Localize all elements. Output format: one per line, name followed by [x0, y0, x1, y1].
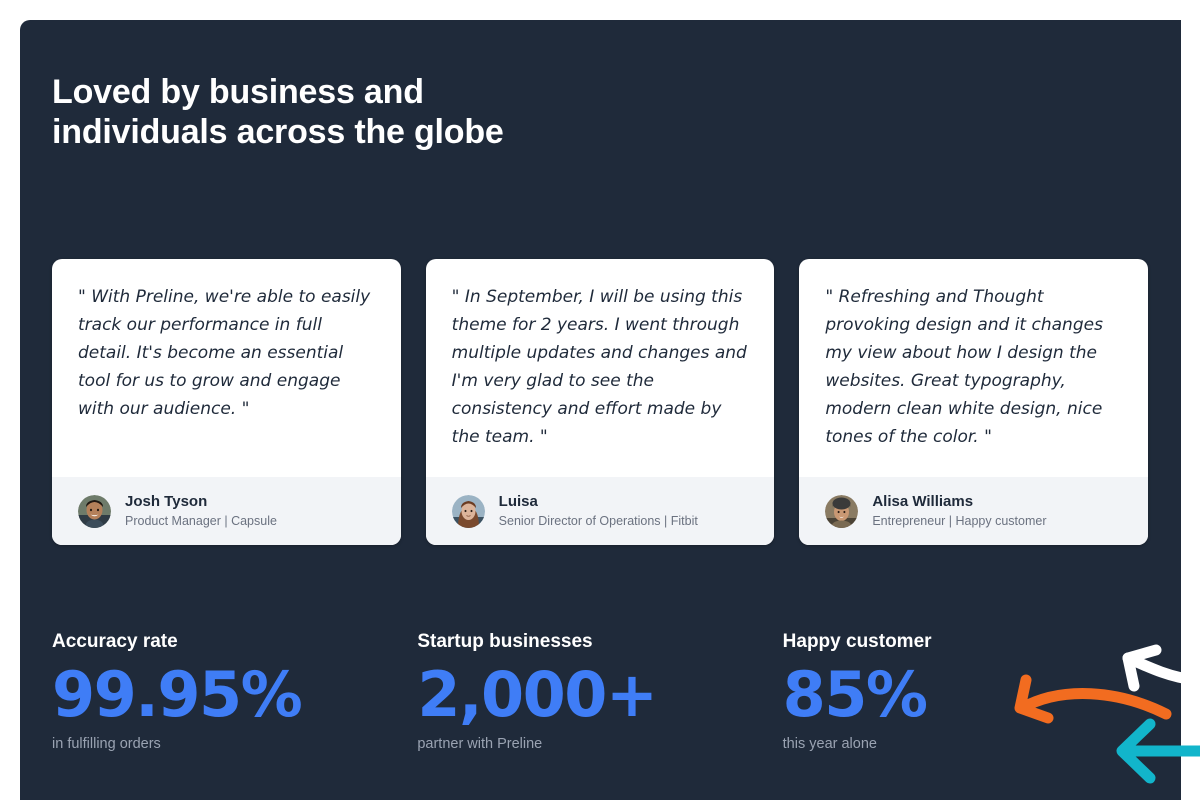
- avatar-alisa-williams: [825, 495, 858, 528]
- stat-accuracy-rate: Accuracy rate 99.95% in fulfilling order…: [52, 630, 417, 754]
- author-role: Product Manager | Capsule: [125, 513, 277, 529]
- stat-happy-customer: Happy customer 85% this year alone: [783, 630, 1148, 754]
- testimonial-footer: Josh Tyson Product Manager | Capsule: [52, 477, 401, 545]
- page-root: Loved by business and individuals across…: [0, 0, 1200, 800]
- stat-title: Happy customer: [783, 630, 1148, 654]
- stat-value: 99.95%: [52, 660, 417, 730]
- testimonial-card[interactable]: " In September, I will be using this the…: [426, 259, 775, 545]
- testimonial-quote: " With Preline, we're able to easily tra…: [78, 283, 375, 423]
- testimonials-section: Loved by business and individuals across…: [20, 20, 1181, 800]
- stat-title: Startup businesses: [417, 630, 782, 654]
- author-name: Luisa: [499, 493, 698, 511]
- stat-subtitle: in fulfilling orders: [52, 734, 417, 754]
- testimonial-quote: " In September, I will be using this the…: [452, 283, 749, 451]
- author-block: Alisa Williams Entrepreneur | Happy cust…: [872, 493, 1046, 529]
- author-name: Alisa Williams: [872, 493, 1046, 511]
- testimonial-card-list: " With Preline, we're able to easily tra…: [52, 259, 1148, 545]
- stat-subtitle: this year alone: [783, 734, 1148, 754]
- testimonial-body: " With Preline, we're able to easily tra…: [52, 259, 401, 477]
- stat-subtitle: partner with Preline: [417, 734, 782, 754]
- testimonial-quote: " Refreshing and Thought provoking desig…: [825, 283, 1122, 451]
- author-role: Senior Director of Operations | Fitbit: [499, 513, 698, 529]
- author-block: Josh Tyson Product Manager | Capsule: [125, 493, 277, 529]
- testimonial-body: " In September, I will be using this the…: [426, 259, 775, 477]
- testimonial-body: " Refreshing and Thought provoking desig…: [799, 259, 1148, 477]
- stat-title: Accuracy rate: [52, 630, 417, 654]
- stats-list: Accuracy rate 99.95% in fulfilling order…: [52, 630, 1148, 754]
- avatar-luisa: [452, 495, 485, 528]
- testimonial-card[interactable]: " Refreshing and Thought provoking desig…: [799, 259, 1148, 545]
- testimonial-footer: Alisa Williams Entrepreneur | Happy cust…: [799, 477, 1148, 545]
- author-role: Entrepreneur | Happy customer: [872, 513, 1046, 529]
- author-block: Luisa Senior Director of Operations | Fi…: [499, 493, 698, 529]
- stat-value: 2,000+: [417, 660, 782, 730]
- stat-value: 85%: [783, 660, 1148, 730]
- avatar-josh-tyson: [78, 495, 111, 528]
- author-name: Josh Tyson: [125, 493, 277, 511]
- testimonial-footer: Luisa Senior Director of Operations | Fi…: [426, 477, 775, 545]
- testimonial-card[interactable]: " With Preline, we're able to easily tra…: [52, 259, 401, 545]
- stat-startup-businesses: Startup businesses 2,000+ partner with P…: [417, 630, 782, 754]
- page-title: Loved by business and individuals across…: [52, 72, 572, 152]
